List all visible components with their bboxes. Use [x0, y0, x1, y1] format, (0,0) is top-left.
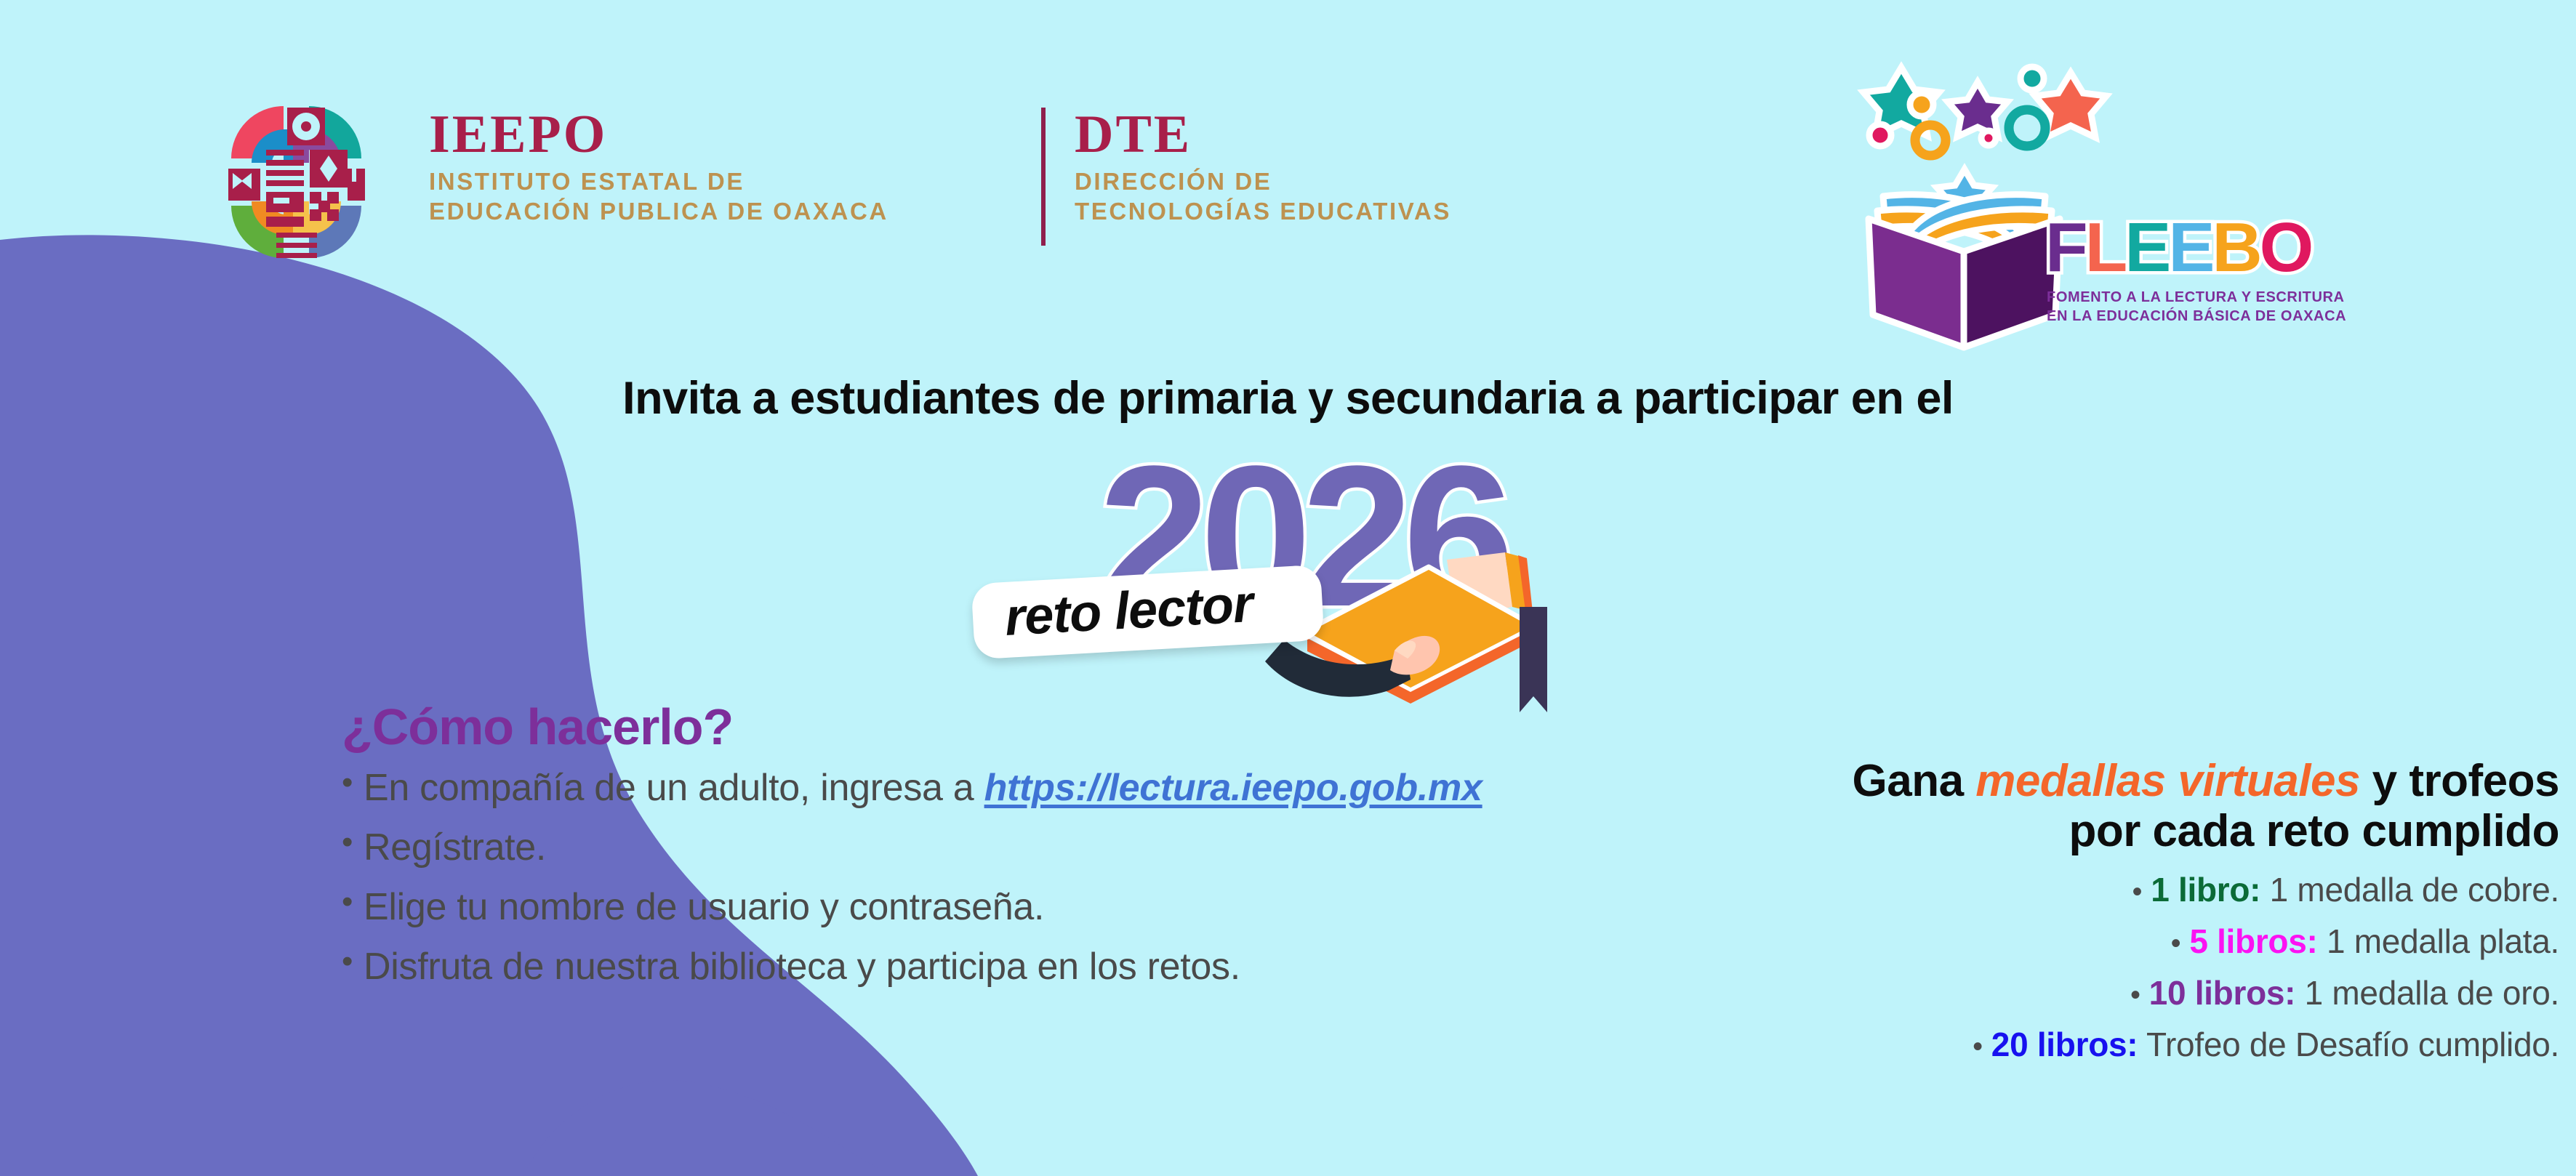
logo-divider [1041, 108, 1046, 246]
rewards-headline: Gana medallas virtuales y trofeos por ca… [1592, 756, 2559, 857]
bullet-dot: • [2171, 927, 2181, 959]
fleebo-letter-3: E [2168, 208, 2212, 288]
ieepo-acronym: IEEPO [429, 109, 888, 160]
reto-lector-text: reto lector [1003, 575, 1254, 647]
rewards-list: •1 libro: 1 medalla de cobre. •5 libros:… [1592, 870, 2559, 1064]
reward-label-1: 5 libros: [2189, 922, 2317, 960]
fleebo-wordmark: FLEEBO [2045, 208, 2311, 288]
ieepo-grecas-mark-icon [218, 93, 374, 271]
howto-list: En compañía de un adulto, ingresa a http… [342, 766, 1592, 988]
reto-lector-2026-logo: 2026 reto lector [952, 436, 1650, 720]
howto-section: ¿Cómo hacerlo? En compañía de un adulto,… [342, 698, 1592, 1004]
invitation-headline: Invita a estudiantes de primaria y secun… [0, 372, 2576, 424]
bullet-dot: • [1973, 1031, 1983, 1063]
bullet-dot: • [2132, 876, 2143, 908]
reward-label-2: 10 libros: [2149, 974, 2296, 1012]
rewards-section: Gana medallas virtuales y trofeos por ca… [1592, 756, 2559, 1076]
rewards-head-part1: Gana [1853, 756, 1976, 806]
howto-step-3-text: Disfruta de nuestra biblioteca y partici… [364, 946, 1240, 988]
list-item: En compañía de un adulto, ingresa a http… [342, 766, 1592, 810]
howto-step-2-text: Elige tu nombre de usuario y contraseña. [364, 886, 1044, 928]
lectura-portal-link[interactable]: https://lectura.ieepo.gob.mx [984, 767, 1482, 809]
list-item: •1 libro: 1 medalla de cobre. [1592, 870, 2559, 909]
header-logos: IEEPO INSTITUTO ESTATAL DE EDUCACIÓN PUB… [0, 0, 2576, 342]
poster-canvas: IEEPO INSTITUTO ESTATAL DE EDUCACIÓN PUB… [0, 0, 2576, 1176]
list-item: Regístrate. [342, 826, 1592, 869]
howto-step-1-text: Regístrate. [364, 826, 546, 869]
fleebo-letter-1: L [2085, 208, 2125, 288]
list-item: •5 libros: 1 medalla plata. [1592, 922, 2559, 961]
reward-value-0: 1 medalla de cobre. [2260, 871, 2559, 909]
rewards-head-line2: por cada reto cumplido [2069, 806, 2559, 856]
list-item: •20 libros: Trofeo de Desafío cumplido. [1592, 1025, 2559, 1064]
reward-label-0: 1 libro: [2151, 871, 2260, 909]
fleebo-letter-2: E [2124, 208, 2168, 288]
fleebo-letter-5: O [2260, 208, 2311, 288]
ieepo-wordmark: IEEPO INSTITUTO ESTATAL DE EDUCACIÓN PUB… [429, 109, 888, 226]
howto-step-0-text: En compañía de un adulto, ingresa a [364, 767, 984, 809]
list-item: •10 libros: 1 medalla de oro. [1592, 973, 2559, 1012]
bullet-dot: • [2130, 979, 2140, 1011]
fleebo-logo: FLEEBO FOMENTO A LA LECTURA Y ESCRITURA … [1839, 13, 2567, 355]
ieepo-subtitle: INSTITUTO ESTATAL DE EDUCACIÓN PUBLICA D… [429, 167, 888, 226]
fleebo-letter-4: B [2212, 208, 2259, 288]
reward-label-3: 20 libros: [1991, 1026, 2138, 1063]
list-item: Disfruta de nuestra biblioteca y partici… [342, 945, 1592, 988]
reward-value-1: 1 medalla plata. [2318, 922, 2559, 960]
dte-wordmark: DTE DIRECCIÓN DE TECNOLOGÍAS EDUCATIVAS [1075, 109, 1451, 226]
rewards-head-highlight: medallas virtuales [1975, 756, 2360, 806]
fleebo-tagline: FOMENTO A LA LECTURA Y ESCRITURA EN LA E… [2047, 288, 2346, 326]
howto-title: ¿Cómo hacerlo? [342, 698, 1592, 756]
list-item: Elige tu nombre de usuario y contraseña. [342, 885, 1592, 929]
dte-subtitle: DIRECCIÓN DE TECNOLOGÍAS EDUCATIVAS [1075, 167, 1451, 226]
dte-acronym: DTE [1075, 109, 1451, 160]
reward-value-3: Trofeo de Desafío cumplido. [2138, 1026, 2559, 1063]
fleebo-letter-0: F [2045, 208, 2085, 288]
reward-value-2: 1 medalla de oro. [2295, 974, 2559, 1012]
rewards-head-part2: y trofeos [2360, 756, 2559, 806]
